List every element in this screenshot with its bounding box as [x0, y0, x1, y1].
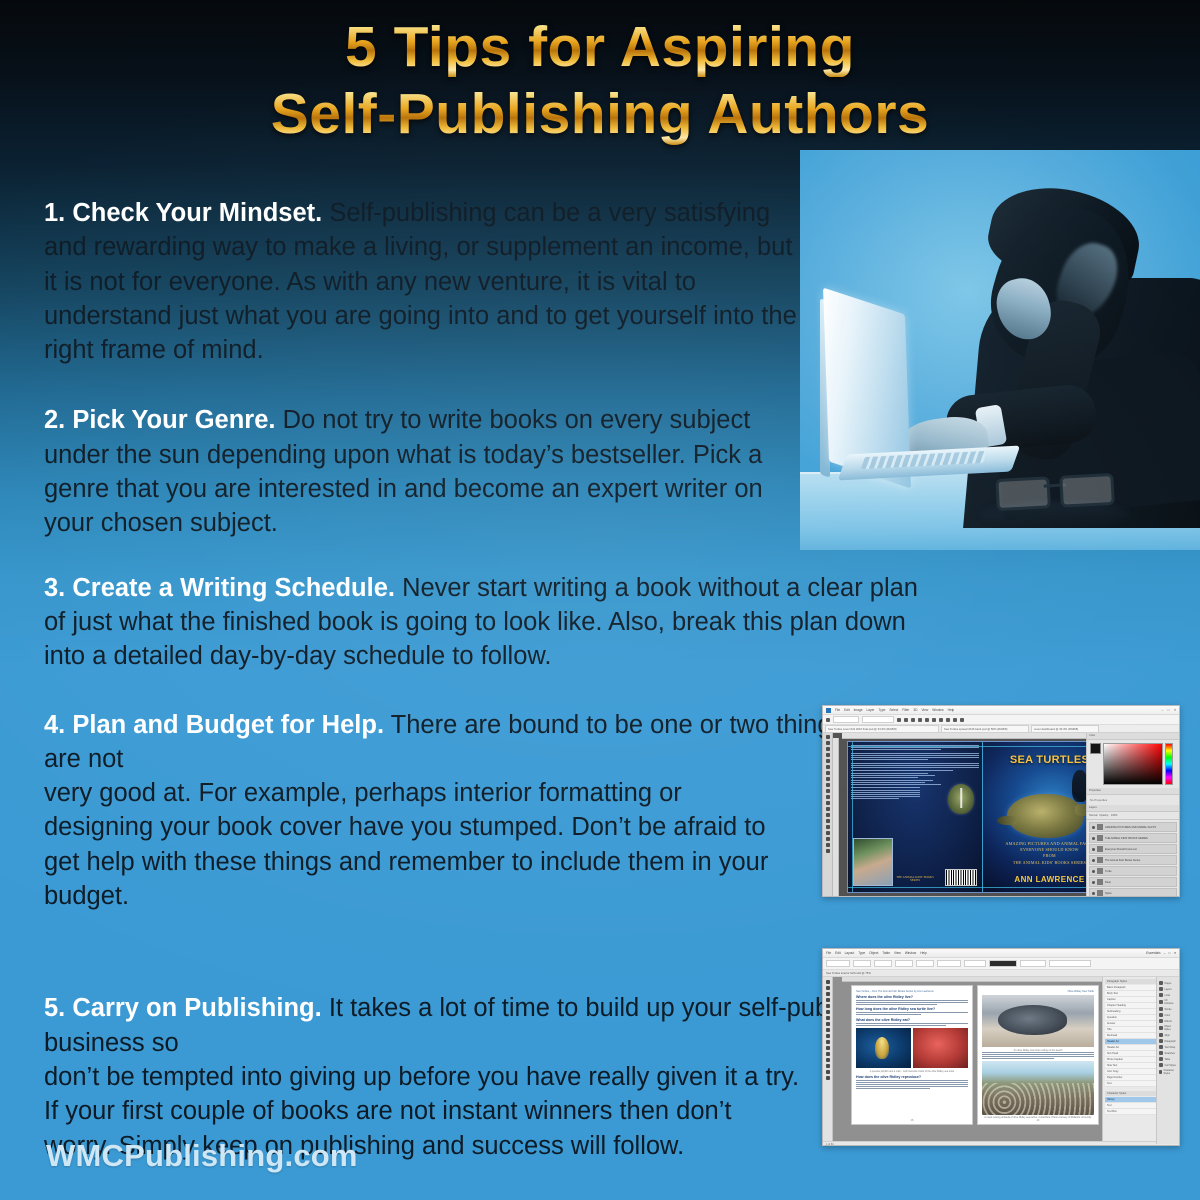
ps-menu-file[interactable]: File — [835, 708, 840, 712]
back-cover-paragraph-1 — [851, 745, 979, 750]
eyedropper-tool-icon[interactable] — [826, 1064, 830, 1068]
heading-4: How does the olive Ridley reproduce? — [856, 1075, 968, 1079]
properties-empty-text: No Properties — [1087, 795, 1179, 805]
page-number-right: 29 — [978, 1119, 1098, 1122]
workspace-label[interactable]: Essentials — [1146, 951, 1161, 955]
pen-tool-icon[interactable] — [826, 1016, 830, 1020]
minimize-icon[interactable]: – — [1162, 708, 1164, 712]
back-cover-paragraph-2 — [851, 753, 979, 761]
dock-character-styles[interactable]: Character Styles — [1157, 1068, 1179, 1076]
body-text-4 — [856, 1080, 968, 1089]
book-subtitle-block: AMAZING PICTURES AND ANIMAL FACTS EVERYO… — [983, 841, 1086, 866]
layer-thumbnail — [1097, 835, 1103, 841]
note-tool-icon[interactable] — [826, 1058, 830, 1062]
cc-libraries-icon — [1159, 1000, 1163, 1004]
layer-thumbnail — [1097, 824, 1103, 830]
image-row[interactable] — [856, 1028, 968, 1068]
layer-name: AMAZING PICTURES AND ANIMAL FACTS — [1105, 826, 1156, 829]
photoshop-window-screenshot[interactable]: File Edit Image Layer Type Select Filter… — [822, 705, 1180, 897]
indesign-status-bar: 1 of 64 — [823, 1141, 1179, 1146]
swatches-icon — [1159, 1051, 1163, 1055]
tip-item-1: 1. Check Your Mindset. Self-publishing c… — [44, 196, 804, 367]
id-menu-file[interactable]: File — [826, 951, 831, 955]
layers-icon — [1159, 987, 1163, 991]
distribute-h-icon[interactable] — [939, 718, 943, 722]
ps-menu-filter[interactable]: Filter — [902, 708, 909, 712]
ps-menu-type[interactable]: Type — [878, 708, 885, 712]
tip-item-4: 4. Plan and Budget for Help. There are b… — [44, 708, 944, 914]
subtitle-line-4: THE ANIMAL KIDS' BOOKS SERIES — [983, 860, 1086, 866]
cell-styles-icon — [1159, 1063, 1163, 1067]
indesign-canvas[interactable]: Sea Turtles – from The Animal Kids' Book… — [833, 977, 1102, 1141]
layer-name: Diver — [1105, 881, 1111, 884]
path-selection-tool-icon[interactable] — [826, 825, 830, 829]
color-icon — [1159, 1013, 1163, 1017]
dock-cc-libraries[interactable]: CC Libraries — [1157, 998, 1179, 1006]
ps-menu-view[interactable]: View — [921, 708, 928, 712]
ps-tab-3[interactable]: cover dashboard @ 33.3% (RGB/8) — [1031, 725, 1099, 732]
color-swatch[interactable] — [1090, 743, 1101, 754]
lasso-tool-icon[interactable] — [826, 747, 830, 751]
align-controls[interactable] — [937, 960, 961, 967]
healing-brush-tool-icon[interactable] — [826, 771, 830, 775]
zoom-tool-icon[interactable] — [826, 843, 830, 847]
back-cover-series-text: THE ANIMAL KIDS' BOOKS SERIES — [892, 876, 938, 884]
gap-tool-icon[interactable] — [826, 998, 830, 1002]
tip-5-lead: 5. Carry on Publishing. — [44, 994, 322, 1022]
gradient-swatch-tool-icon[interactable] — [826, 1052, 830, 1056]
layer-name: Everyone Should Know text — [1105, 848, 1137, 851]
horizontal-ruler — [842, 977, 1102, 982]
opacity-value[interactable]: 100% — [1111, 814, 1118, 817]
body-text-3 — [856, 1023, 968, 1026]
ps-menu-image[interactable]: Image — [854, 708, 863, 712]
tip-item-3: 3. Create a Writing Schedule. Never star… — [44, 571, 924, 674]
type-tool-icon[interactable] — [826, 819, 830, 823]
clone-stamp-tool-icon[interactable] — [826, 783, 830, 787]
jellyfish-photo[interactable] — [856, 1028, 911, 1068]
page-number-left: 28 — [852, 1119, 972, 1122]
layer-row[interactable]: Spine — [1089, 888, 1177, 897]
color-panel-title[interactable]: Color — [1087, 733, 1179, 740]
glasses-lens-right — [1059, 473, 1115, 508]
id-menu-window[interactable]: Window — [905, 951, 916, 955]
links-icon — [1159, 993, 1163, 997]
brush-tool-icon[interactable] — [826, 777, 830, 781]
scissors-tool-icon[interactable] — [826, 1040, 830, 1044]
distribute-v-icon[interactable] — [946, 718, 950, 722]
photoshop-options-bar[interactable] — [823, 715, 1179, 725]
ps-menu-layer[interactable]: Layer — [867, 708, 875, 712]
book-cover-artwork[interactable]: THE ANIMAL KIDS' BOOKS SERIES SEA TURTLE… — [847, 741, 1086, 893]
eyedropper-tool-icon[interactable] — [826, 765, 830, 769]
indesign-toolbar[interactable] — [823, 977, 833, 1141]
scuba-diver-image — [1072, 770, 1086, 802]
layer-thumbnail — [1097, 857, 1103, 863]
paragraph-style-select[interactable] — [826, 960, 850, 967]
object-styles-icon — [1159, 1026, 1163, 1030]
ps-menu-window[interactable]: Window — [932, 708, 943, 712]
align-icon — [1159, 1033, 1163, 1037]
page-right[interactable]: Olive Ridley Sea Turtle An olive Ridley … — [977, 985, 1099, 1125]
close-icon[interactable]: ✕ — [1173, 951, 1176, 955]
maximize-icon[interactable]: □ — [1167, 708, 1169, 712]
id-menu-object[interactable]: Object — [869, 951, 878, 955]
close-icon[interactable]: ✕ — [1173, 708, 1176, 712]
direct-selection-tool-icon[interactable] — [826, 986, 830, 990]
align-center-icon[interactable] — [904, 718, 908, 722]
eye-icon[interactable] — [1092, 848, 1095, 851]
back-cover-turtle-image — [948, 784, 974, 814]
layer-thumbnail — [1097, 879, 1103, 885]
layer-row[interactable]: Diver — [1089, 877, 1177, 887]
indent-controls[interactable] — [964, 960, 986, 967]
runhead-right: Olive Ridley Sea Turtle — [982, 990, 1094, 993]
id-menu-view[interactable]: View — [894, 951, 901, 955]
character-styles-icon — [1159, 1070, 1162, 1074]
ps-option-layer-dropdown[interactable] — [862, 716, 894, 723]
hand-tool-icon[interactable] — [826, 837, 830, 841]
eye-icon[interactable] — [1092, 837, 1095, 840]
photoshop-canvas[interactable]: THE ANIMAL KIDS' BOOKS SERIES SEA TURTLE… — [833, 733, 1086, 897]
ps-menu-3d[interactable]: 3D — [913, 708, 917, 712]
move-tool-icon[interactable] — [826, 718, 830, 722]
body-text-1 — [856, 1000, 968, 1005]
tip-item-2: 2. Pick Your Genre. Do not try to write … — [44, 403, 789, 540]
photoshop-app-icon — [826, 708, 831, 713]
eyeglasses-icon — [995, 473, 1114, 507]
layer-row[interactable]: Everyone Should Know text — [1089, 844, 1177, 854]
title-line-1: 5 Tips for Aspiring — [0, 18, 1200, 77]
object-style-select[interactable] — [1049, 960, 1091, 967]
ps-menu-select[interactable]: Select — [889, 708, 898, 712]
poster: 5 Tips for Aspiring Self-Publishing Auth… — [0, 0, 1200, 1200]
text-wrap-icon — [1159, 1045, 1163, 1049]
align-top-icon[interactable] — [918, 718, 922, 722]
layer-name: Turtle — [1105, 870, 1112, 873]
blend-mode-select[interactable]: Normal — [1089, 814, 1097, 817]
tip-1-lead: 1. Check Your Mindset. — [44, 199, 322, 227]
layer-row[interactable]: THE ANIMAL KIDS' BOOKS SERIES — [1089, 833, 1177, 843]
foreground-color-swatch[interactable] — [826, 849, 830, 853]
vertical-ruler — [833, 738, 839, 897]
stroke-icon — [1159, 1007, 1163, 1011]
kerning-field[interactable] — [895, 960, 913, 967]
layer-blend-controls[interactable]: Normal Opacity: 100% — [1087, 812, 1179, 819]
free-transform-tool-icon[interactable] — [826, 1046, 830, 1050]
hue-slider[interactable] — [1165, 743, 1173, 785]
selection-tool-icon[interactable] — [826, 980, 830, 984]
author-photo — [853, 838, 893, 886]
hand-tool-icon[interactable] — [826, 1070, 830, 1074]
page-left[interactable]: Sea Turtles – from The Animal Kids' Book… — [851, 985, 973, 1125]
dodge-tool-icon[interactable] — [826, 807, 830, 811]
layer-name: The Animal Kids' Books Series — [1105, 859, 1140, 862]
photoshop-window-controls[interactable]: – □ ✕ — [1162, 708, 1176, 712]
horizontal-ruler — [842, 733, 1086, 739]
eye-icon[interactable] — [1092, 870, 1095, 873]
layer-row[interactable]: Turtle — [1089, 866, 1177, 876]
leading-field[interactable] — [874, 960, 892, 967]
photoshop-panel-dock[interactable]: Color Properties No Properties Layers No… — [1086, 733, 1179, 897]
layer-name: THE ANIMAL KIDS' BOOKS SERIES — [1105, 837, 1148, 840]
id-menu-help[interactable]: Help — [920, 951, 927, 955]
paragraph-icon — [1159, 1039, 1163, 1043]
layer-row[interactable]: AMAZING PICTURES AND ANIMAL FACTS — [1089, 822, 1177, 832]
poster-title: 5 Tips for Aspiring Self-Publishing Auth… — [0, 18, 1200, 145]
runhead-left: Sea Turtles – from The Animal Kids' Book… — [856, 990, 968, 993]
book-back-cover: THE ANIMAL KIDS' BOOKS SERIES — [848, 742, 982, 892]
book-title: SEA TURTLES — [983, 754, 1086, 766]
shape-tool-icon[interactable] — [826, 831, 830, 835]
book-author-name: ANN LAWRENCE — [983, 875, 1086, 884]
align-bottom-icon[interactable] — [932, 718, 936, 722]
font-size-field[interactable] — [853, 960, 871, 967]
sea-turtle-image — [1007, 794, 1083, 838]
id-menu-type[interactable]: Type — [858, 951, 865, 955]
glasses-lens-left — [995, 476, 1051, 511]
align-middle-icon[interactable] — [925, 718, 929, 722]
tip-4-body-rest: very good at. For example, perhaps inter… — [44, 776, 784, 913]
id-menu-layout[interactable]: Layout — [845, 951, 855, 955]
back-cover-paragraph-4 — [851, 787, 920, 799]
ps-option-autoselect[interactable] — [833, 716, 859, 723]
move-tool-icon[interactable] — [826, 735, 830, 739]
layers-list[interactable]: AMAZING PICTURES AND ANIMAL FACTS THE AN… — [1087, 819, 1179, 897]
color-picker[interactable] — [1087, 740, 1179, 788]
heading-3: What does the olive Ridley eat? — [856, 1018, 968, 1022]
stroke-style-select[interactable] — [1020, 960, 1046, 967]
eye-icon[interactable] — [1092, 826, 1095, 829]
gradient-tool-icon[interactable] — [826, 795, 830, 799]
effects-icon — [1159, 1019, 1163, 1023]
eye-icon[interactable] — [1092, 892, 1095, 895]
title-line-2: Self-Publishing Authors — [0, 85, 1200, 144]
indesign-control-bar[interactable] — [823, 958, 1179, 970]
marquee-tool-icon[interactable] — [826, 741, 830, 745]
isbn-barcode — [945, 869, 977, 886]
tip-3-lead: 3. Create a Writing Schedule. — [44, 574, 395, 602]
caption-left: A juvenile jellyfish and a crab – both f… — [856, 1070, 968, 1073]
book-front-cover: SEA TURTLES AMAZING PICTURES AND ANIMAL … — [982, 742, 1086, 892]
layer-name: Spine — [1105, 892, 1112, 895]
tip-4-lead: 4. Plan and Budget for Help. — [44, 711, 384, 739]
type-tool-icon[interactable] — [826, 1004, 830, 1008]
minimize-icon[interactable]: – — [1164, 951, 1166, 955]
ps-tab-2[interactable]: Sea Turtles spread 2016 back.psd @ 50% (… — [941, 725, 1029, 732]
id-menu-table[interactable]: Table — [882, 951, 890, 955]
ps-menu-help[interactable]: Help — [948, 708, 955, 712]
indesign-window-controls[interactable]: Essentials – □ ✕ — [1146, 951, 1176, 955]
arribada-beach-photo[interactable] — [982, 1061, 1094, 1115]
indesign-menu-bar[interactable]: File Edit Layout Type Object Table View … — [823, 949, 1179, 958]
pages-icon — [1159, 981, 1163, 985]
layer-thumbnail — [1097, 846, 1103, 852]
pen-tool-icon[interactable] — [826, 813, 830, 817]
photoshop-workspace: THE ANIMAL KIDS' BOOKS SERIES SEA TURTLE… — [823, 733, 1179, 897]
align-left-icon[interactable] — [897, 718, 901, 722]
photoshop-menu-bar[interactable]: File Edit Image Layer Type Select Filter… — [823, 706, 1179, 715]
stroke-weight-preview[interactable] — [989, 960, 1017, 967]
tip-2-lead: 2. Pick Your Genre. — [44, 406, 276, 434]
properties-panel-title[interactable]: Properties — [1087, 788, 1179, 795]
blur-tool-icon[interactable] — [826, 801, 830, 805]
tracking-field[interactable] — [916, 960, 934, 967]
color-field[interactable] — [1103, 743, 1163, 785]
align-right-icon[interactable] — [911, 718, 915, 722]
layer-thumbnail — [1097, 868, 1103, 874]
back-cover-paragraph-3 — [851, 763, 979, 771]
indesign-document-tab[interactable]: Sea Turtles interior 6x9.indd @ 75% — [823, 970, 1179, 977]
magic-wand-tool-icon[interactable] — [826, 753, 830, 757]
zoom-tool-icon[interactable] — [826, 1076, 830, 1080]
rectangle-frame-tool-icon[interactable] — [826, 1028, 830, 1032]
maximize-icon[interactable]: □ — [1168, 951, 1170, 955]
body-text-right — [982, 1052, 1094, 1059]
line-tool-icon[interactable] — [826, 1010, 830, 1014]
eraser-tool-icon[interactable] — [826, 789, 830, 793]
photoshop-toolbar[interactable] — [823, 733, 833, 897]
crab-photo[interactable] — [913, 1028, 968, 1068]
photoshop-document-tabs[interactable]: Sea Turtles cover 6x9 2016 final.psd @ 3… — [823, 725, 1179, 733]
pencil-tool-icon[interactable] — [826, 1022, 830, 1026]
site-url-footer: WMCPublishing.com — [46, 1138, 358, 1174]
crop-tool-icon[interactable] — [826, 759, 830, 763]
heading-2: How long does the olive Ridley sea turtl… — [856, 1007, 968, 1011]
body-text-2 — [856, 1012, 968, 1015]
page-spread[interactable]: Sea Turtles – from The Animal Kids' Book… — [851, 985, 1099, 1125]
eye-icon[interactable] — [1092, 881, 1095, 884]
table-icon — [1159, 1057, 1163, 1061]
layer-thumbnail — [1097, 890, 1103, 896]
opacity-label: Opacity: — [1099, 814, 1109, 817]
sea-turtle-photo[interactable] — [982, 995, 1094, 1047]
distribute-spacing-icon[interactable] — [953, 718, 957, 722]
indesign-window-screenshot[interactable]: File Edit Layout Type Object Table View … — [822, 948, 1180, 1146]
dock-object-styles[interactable]: Object Styles — [1157, 1024, 1179, 1032]
ps-tab-1[interactable]: Sea Turtles cover 6x9 2016 final.psd @ 3… — [825, 725, 939, 732]
layer-row[interactable]: The Animal Kids' Books Series — [1089, 855, 1177, 865]
heading-1: Where does the olive Ridley live? — [856, 995, 968, 999]
eye-icon[interactable] — [1092, 859, 1095, 862]
indesign-icon-dock[interactable]: Pages Layers Links CC Libraries Stroke C… — [1156, 977, 1179, 1144]
page-tool-icon[interactable] — [826, 992, 830, 996]
ps-menu-edit[interactable]: Edit — [844, 708, 850, 712]
layers-panel-title[interactable]: Layers — [1087, 805, 1179, 812]
indesign-workspace: Sea Turtles – from The Animal Kids' Book… — [823, 977, 1179, 1141]
rectangle-tool-icon[interactable] — [826, 1034, 830, 1038]
auto-align-icon[interactable] — [960, 718, 964, 722]
id-menu-edit[interactable]: Edit — [835, 951, 841, 955]
